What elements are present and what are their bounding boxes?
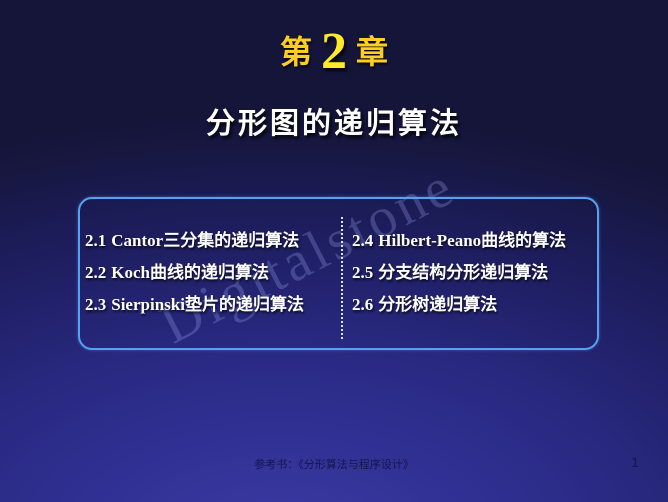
toc-label: Sierpinski垫片的递归算法	[111, 295, 304, 314]
presentation-slide: Digitalstone 第2章 分形图的递归算法 2.1Cantor三分集的递…	[0, 0, 668, 502]
slide-subtitle: 分形图的递归算法	[0, 100, 668, 142]
toc-label: Cantor三分集的递归算法	[111, 231, 299, 250]
toc-item-2-5[interactable]: 2.5分支结构分形递归算法	[352, 257, 597, 289]
page-number: 1	[631, 454, 639, 470]
chapter-title: 第2章	[0, 26, 668, 78]
toc-index: 2.6	[352, 295, 378, 314]
chapter-number: 2	[312, 23, 356, 80]
toc-item-2-1[interactable]: 2.1Cantor三分集的递归算法	[85, 225, 337, 257]
column-divider	[341, 217, 343, 339]
toc-index: 2.5	[352, 263, 378, 282]
toc-label: 分形树递归算法	[378, 295, 497, 314]
toc-item-2-3[interactable]: 2.3Sierpinski垫片的递归算法	[85, 289, 337, 321]
toc-index: 2.2	[85, 263, 111, 282]
toc-label: Koch曲线的递归算法	[111, 263, 269, 282]
toc-item-2-6[interactable]: 2.6分形树递归算法	[352, 289, 597, 321]
toc-column-left: 2.1Cantor三分集的递归算法 2.2Koch曲线的递归算法 2.3Sier…	[85, 225, 337, 321]
chapter-title-suffix: 章	[356, 33, 388, 71]
footer-reference: 参考书：《分形算法与程序设计》	[0, 456, 668, 472]
toc-label: 分支结构分形递归算法	[378, 263, 548, 282]
contents-box: 2.1Cantor三分集的递归算法 2.2Koch曲线的递归算法 2.3Sier…	[78, 197, 599, 350]
toc-label: Hilbert-Peano曲线的算法	[378, 231, 566, 250]
toc-index: 2.1	[85, 231, 111, 250]
toc-item-2-2[interactable]: 2.2Koch曲线的递归算法	[85, 257, 337, 289]
toc-index: 2.4	[352, 231, 378, 250]
chapter-title-prefix: 第	[280, 33, 312, 71]
toc-column-right: 2.4Hilbert-Peano曲线的算法 2.5分支结构分形递归算法 2.6分…	[352, 225, 597, 321]
toc-index: 2.3	[85, 295, 111, 314]
toc-item-2-4[interactable]: 2.4Hilbert-Peano曲线的算法	[352, 225, 597, 257]
